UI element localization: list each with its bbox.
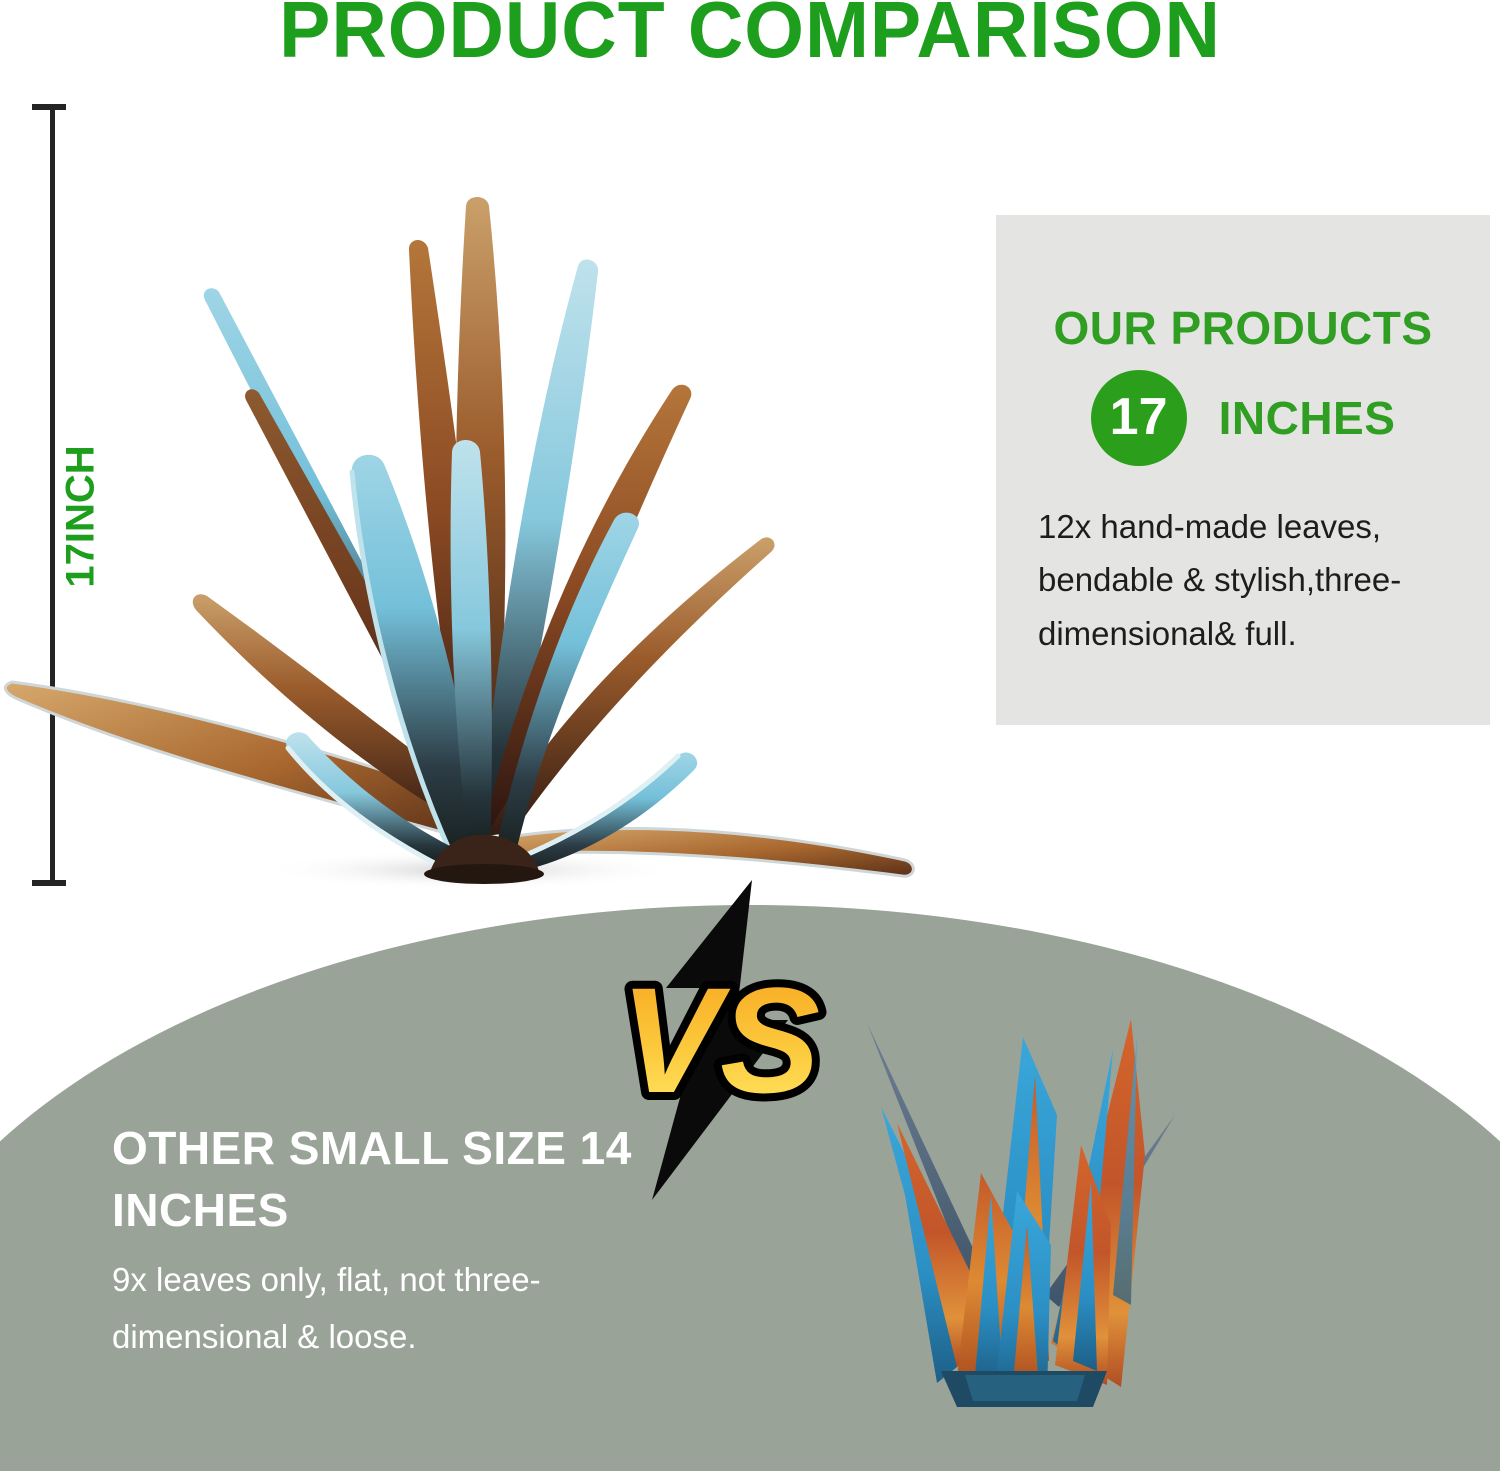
- our-product-description: 12x hand-made leaves, bendable & stylish…: [1038, 500, 1458, 660]
- size-badge-circle: 17: [1091, 370, 1187, 466]
- versus-label: VS: [620, 956, 820, 1124]
- our-product-heading: OUR PRODUCTS: [996, 301, 1490, 355]
- page-title: PRODUCT COMPARISON: [30, 0, 1470, 70]
- competitor-description: 9x leaves only, flat, not three-dimensio…: [112, 1252, 672, 1366]
- size-badge-row: 17 INCHES: [996, 370, 1490, 466]
- competitor-product-image: [845, 995, 1195, 1425]
- size-unit-label: INCHES: [1219, 391, 1396, 445]
- main-product-image: [0, 100, 960, 890]
- competitor-heading: OTHER SMALL SIZE 14 INCHES: [112, 1118, 732, 1241]
- our-product-info-panel: OUR PRODUCTS 17 INCHES 12x hand-made lea…: [996, 215, 1490, 725]
- infographic-canvas: PRODUCT COMPARISON 17INCH: [0, 0, 1500, 1471]
